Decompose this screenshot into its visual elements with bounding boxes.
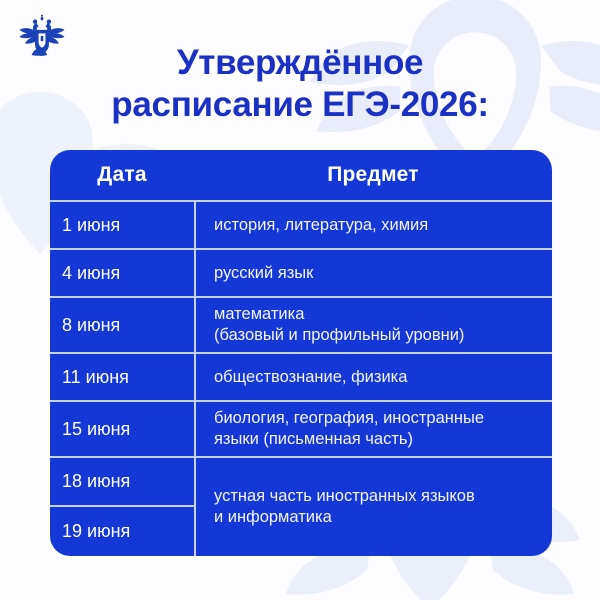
cell-subject: математика (базовый и профильный уровни) <box>194 298 552 352</box>
cell-date: 4 июня <box>50 250 194 296</box>
column-divider <box>194 202 196 556</box>
table-row: 15 июня биология, география, иностранные… <box>50 402 552 458</box>
column-header-date: Дата <box>50 150 194 200</box>
table-row: 4 июня русский язык <box>50 250 552 298</box>
table-row-merged: 18 июня 19 июня устная часть иностранных… <box>50 458 552 556</box>
cell-subject: русский язык <box>194 250 552 296</box>
cell-date: 18 июня <box>50 458 194 507</box>
merged-date-column: 18 июня 19 июня <box>50 458 194 556</box>
table-row: 11 июня обществознание, физика <box>50 354 552 402</box>
cell-subject-merged: устная часть иностранных языков и информ… <box>194 458 552 556</box>
cell-date: 1 июня <box>50 202 194 248</box>
poster-canvas: Утверждённое расписание ЕГЭ-2026: Дата П… <box>0 0 600 600</box>
cell-subject: история, литература, химия <box>194 202 552 248</box>
table-row: 8 июня математика (базовый и профильный … <box>50 298 552 354</box>
column-header-subject: Предмет <box>194 150 552 200</box>
table-header-row: Дата Предмет <box>50 150 552 202</box>
cell-date: 8 июня <box>50 298 194 352</box>
cell-date: 19 июня <box>50 507 194 556</box>
cell-date: 15 июня <box>50 402 194 456</box>
table-body: 1 июня история, литература, химия 4 июня… <box>50 202 552 556</box>
cell-date: 11 июня <box>50 354 194 400</box>
table-row: 1 июня история, литература, химия <box>50 202 552 250</box>
page-title: Утверждённое расписание ЕГЭ-2026: <box>0 42 600 126</box>
cell-subject: биология, география, иностранные языки (… <box>194 402 552 456</box>
schedule-table: Дата Предмет 1 июня история, литература,… <box>50 150 552 556</box>
cell-subject: обществознание, физика <box>194 354 552 400</box>
